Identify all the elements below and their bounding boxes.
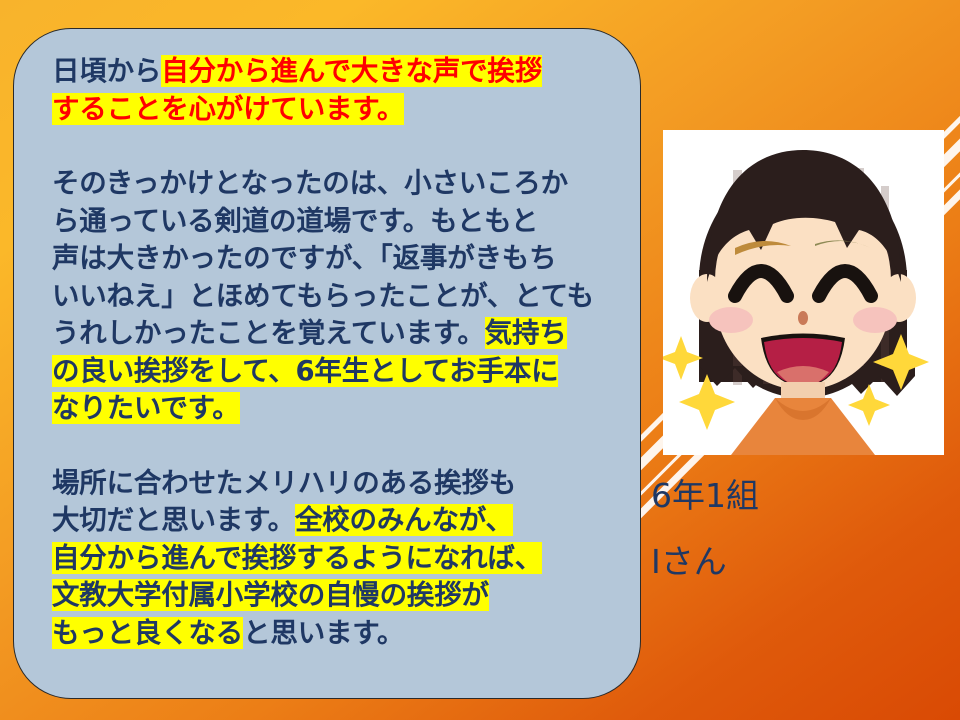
highlighted-text: 自分から進んで大きな声で挨拶 — [161, 55, 542, 87]
text-line: 文教大学付属小学校の自慢の挨拶が — [52, 577, 626, 615]
highlighted-text: もっと良くなる — [52, 617, 243, 649]
text-line: 日頃から自分から進んで大きな声で挨拶 — [52, 53, 626, 91]
slide-canvas: 日頃から自分から進んで大きな声で挨拶することを心がけています。そのきっかけとなっ… — [0, 0, 960, 720]
text-line: 大切だと思います。全校のみんなが、 — [52, 502, 626, 540]
paragraph-p1: 日頃から自分から進んで大きな声で挨拶することを心がけています。 — [52, 53, 626, 128]
paragraph-spacer — [52, 128, 626, 165]
text-line: いいねえ」とほめてもらったことが、とても — [52, 278, 626, 316]
text-line: なりたいです。 — [52, 390, 626, 428]
highlighted-text: 全校のみんなが、 — [295, 504, 513, 536]
plain-text: 日頃から — [52, 55, 161, 87]
highlighted-text: 文教大学付属小学校の自慢の挨拶が — [52, 579, 489, 611]
text-line: 自分から進んで挨拶するようになれば、 — [52, 540, 626, 578]
paragraph-p3: 場所に合わせたメリハリのある挨拶も大切だと思います。全校のみんなが、自分から進ん… — [52, 465, 626, 653]
panel-body-text: 日頃から自分から進んで大きな声で挨拶することを心がけています。そのきっかけとなっ… — [52, 53, 626, 652]
paragraph-p2: そのきっかけとなったのは、小さいころから通っている剣道の道場です。もともと声は大… — [52, 165, 626, 428]
text-line: うれしかったことを覚えています。気持ち — [52, 315, 626, 353]
student-caption: 6年1組 Iさん — [651, 463, 941, 595]
student-photo-frame — [663, 130, 944, 455]
student-illustration — [663, 130, 944, 455]
text-line: もっと良くなると思います。 — [52, 615, 626, 653]
text-line: 声は大きかったのですが、「返事がきもち — [52, 240, 626, 278]
highlighted-text: なりたいです。 — [52, 392, 240, 424]
highlighted-text: 自分から進んで挨拶するようになれば、 — [52, 542, 542, 574]
caption-class: 6年1組 — [651, 463, 941, 529]
plain-text: そのきっかけとなったのは、小さいころか — [52, 167, 568, 199]
text-line: することを心がけています。 — [52, 91, 626, 129]
text-panel: 日頃から自分から進んで大きな声で挨拶することを心がけています。そのきっかけとなっ… — [13, 28, 641, 699]
plain-text: うれしかったことを覚えています。 — [52, 317, 485, 349]
text-line: 場所に合わせたメリハリのある挨拶も — [52, 465, 626, 503]
caption-student: Iさん — [651, 529, 941, 595]
plain-text: 声は大きかったのですが、「返事がきもち — [52, 242, 556, 274]
paragraph-spacer — [52, 428, 626, 465]
plain-text: 場所に合わせたメリハリのある挨拶も — [52, 467, 516, 499]
highlighted-text: することを心がけています。 — [52, 93, 404, 125]
highlighted-text: の良い挨拶をして、6年生としてお手本に — [52, 355, 558, 387]
plain-text: と思います。 — [243, 617, 404, 649]
text-line: そのきっかけとなったのは、小さいころか — [52, 165, 626, 203]
text-line: ら通っている剣道の道場です。もともと — [52, 203, 626, 241]
text-line: の良い挨拶をして、6年生としてお手本に — [52, 353, 626, 391]
smiling-girl-icon — [663, 130, 944, 455]
plain-text: いいねえ」とほめてもらったことが、とても — [52, 280, 594, 312]
highlighted-text: 気持ち — [485, 317, 567, 349]
plain-text: 大切だと思います。 — [52, 504, 295, 536]
plain-text: ら通っている剣道の道場です。もともと — [52, 205, 538, 237]
